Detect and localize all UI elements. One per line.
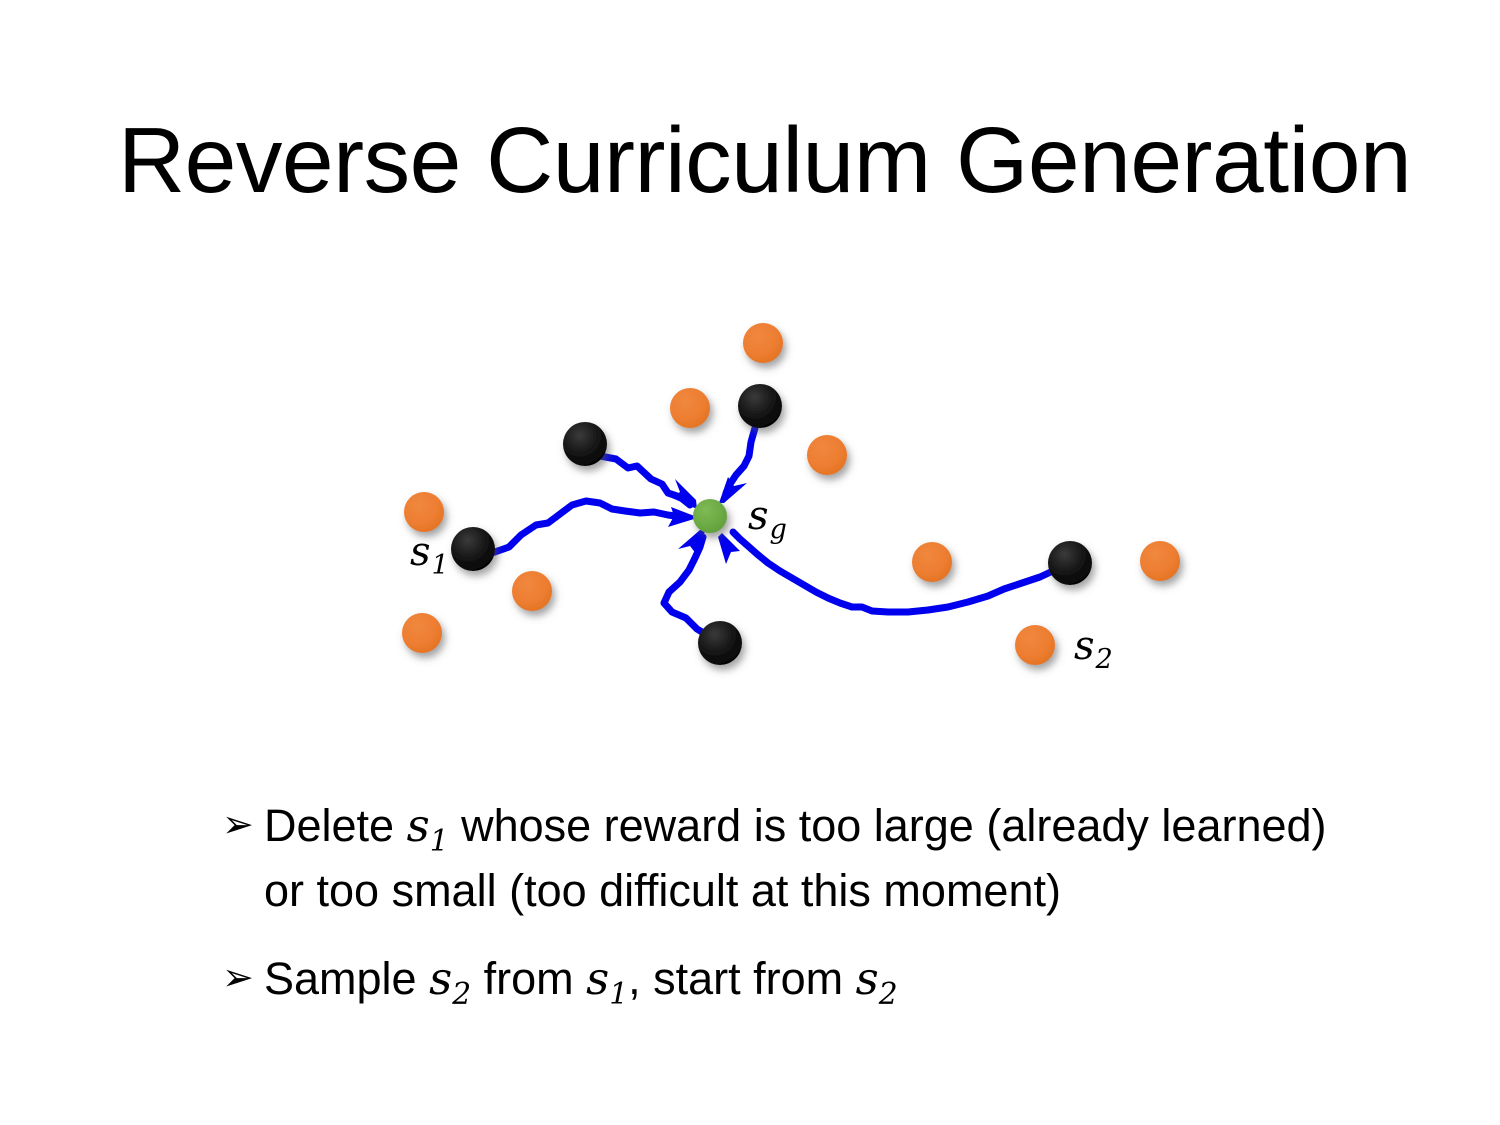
bullet1-math-s1: s1 xyxy=(407,799,449,852)
page-title: Reverse Curriculum Generation xyxy=(118,112,1398,210)
bullet2-math-s1-base: s xyxy=(586,952,609,1005)
black-state-group xyxy=(451,384,1092,665)
bullet2-math-s2b-sub: 2 xyxy=(879,977,898,1012)
orange-state-dot xyxy=(743,323,783,363)
orange-state-dot xyxy=(404,492,444,532)
bullet1-seg2: whose reward is too large (already xyxy=(449,800,1162,851)
trajectory-from-s2 xyxy=(733,532,1055,612)
bullet1-math-s1-sub: 1 xyxy=(430,824,449,859)
black-state-dot-bottom xyxy=(698,621,742,665)
label-s1-sub: 1 xyxy=(432,550,449,581)
arrowhead-group xyxy=(668,477,747,564)
bullet2-math-s2a-base: s xyxy=(429,952,452,1005)
bullet-list: ➢ Delete s1 whose reward is too large (a… xyxy=(222,796,1342,1042)
bullet1-math-s1-base: s xyxy=(407,799,430,852)
bullet1-seg1: Delete xyxy=(264,800,407,851)
orange-state-group xyxy=(402,323,1180,665)
label-s2-sub: 2 xyxy=(1096,644,1113,675)
trajectory-from-bottom xyxy=(664,537,712,638)
bullet-arrow-icon: ➢ xyxy=(222,796,264,853)
label-s1: s1 xyxy=(410,532,449,579)
orange-state-dot xyxy=(512,571,552,611)
bullet-text-delete: Delete s1 whose reward is too large (alr… xyxy=(264,796,1342,921)
trajectory-from-top-right xyxy=(726,428,755,493)
bullet2-math-s2b: s2 xyxy=(856,952,898,1005)
bullet2-seg1: Sample xyxy=(264,953,429,1004)
bullet-item-sample: ➢ Sample s2 from s1, start from s2 xyxy=(222,949,1342,1014)
black-state-dot-top-right xyxy=(738,384,782,428)
trajectory-from-s1 xyxy=(492,501,682,553)
bullet2-seg2: from xyxy=(471,953,586,1004)
black-state-dot-s1 xyxy=(451,527,495,571)
label-sg: sg xyxy=(748,496,787,543)
bullet2-math-s1: s1 xyxy=(586,952,628,1005)
bullet2-math-s1-sub: 1 xyxy=(609,977,628,1012)
label-s2-base: s xyxy=(1074,623,1095,669)
arrowhead-upper-left xyxy=(672,479,697,509)
green-goal-dot xyxy=(693,499,727,533)
label-sg-sub: g xyxy=(770,514,787,545)
label-s1-base: s xyxy=(410,529,431,575)
orange-state-dot xyxy=(402,613,442,653)
label-sg-base: s xyxy=(748,493,769,539)
bullet-arrow-icon: ➢ xyxy=(222,949,264,1006)
orange-state-dot xyxy=(912,542,952,582)
arrowhead-left xyxy=(668,507,697,527)
orange-state-dot xyxy=(1015,625,1055,665)
bullet2-seg3: , start from xyxy=(628,953,856,1004)
bullet-item-delete: ➢ Delete s1 whose reward is too large (a… xyxy=(222,796,1342,921)
label-s2: s2 xyxy=(1074,626,1113,673)
arrowhead-bottom-right xyxy=(718,533,740,564)
black-state-dot-upper-left xyxy=(563,422,607,466)
arrowhead-bottom-left xyxy=(678,530,705,555)
bullet-text-sample: Sample s2 from s1, start from s2 xyxy=(264,949,1342,1014)
arrowhead-top-right xyxy=(719,477,747,503)
bullet2-math-s2a-sub: 2 xyxy=(452,977,471,1012)
orange-state-dot xyxy=(670,388,710,428)
bullet2-math-s2b-base: s xyxy=(856,952,879,1005)
trajectory-from-upper-left xyxy=(600,456,690,505)
orange-state-dot xyxy=(1140,541,1180,581)
orange-state-dot xyxy=(807,435,847,475)
trajectory-group xyxy=(492,428,1055,638)
bullet2-math-s2a: s2 xyxy=(429,952,471,1005)
black-state-dot-s2 xyxy=(1048,541,1092,585)
